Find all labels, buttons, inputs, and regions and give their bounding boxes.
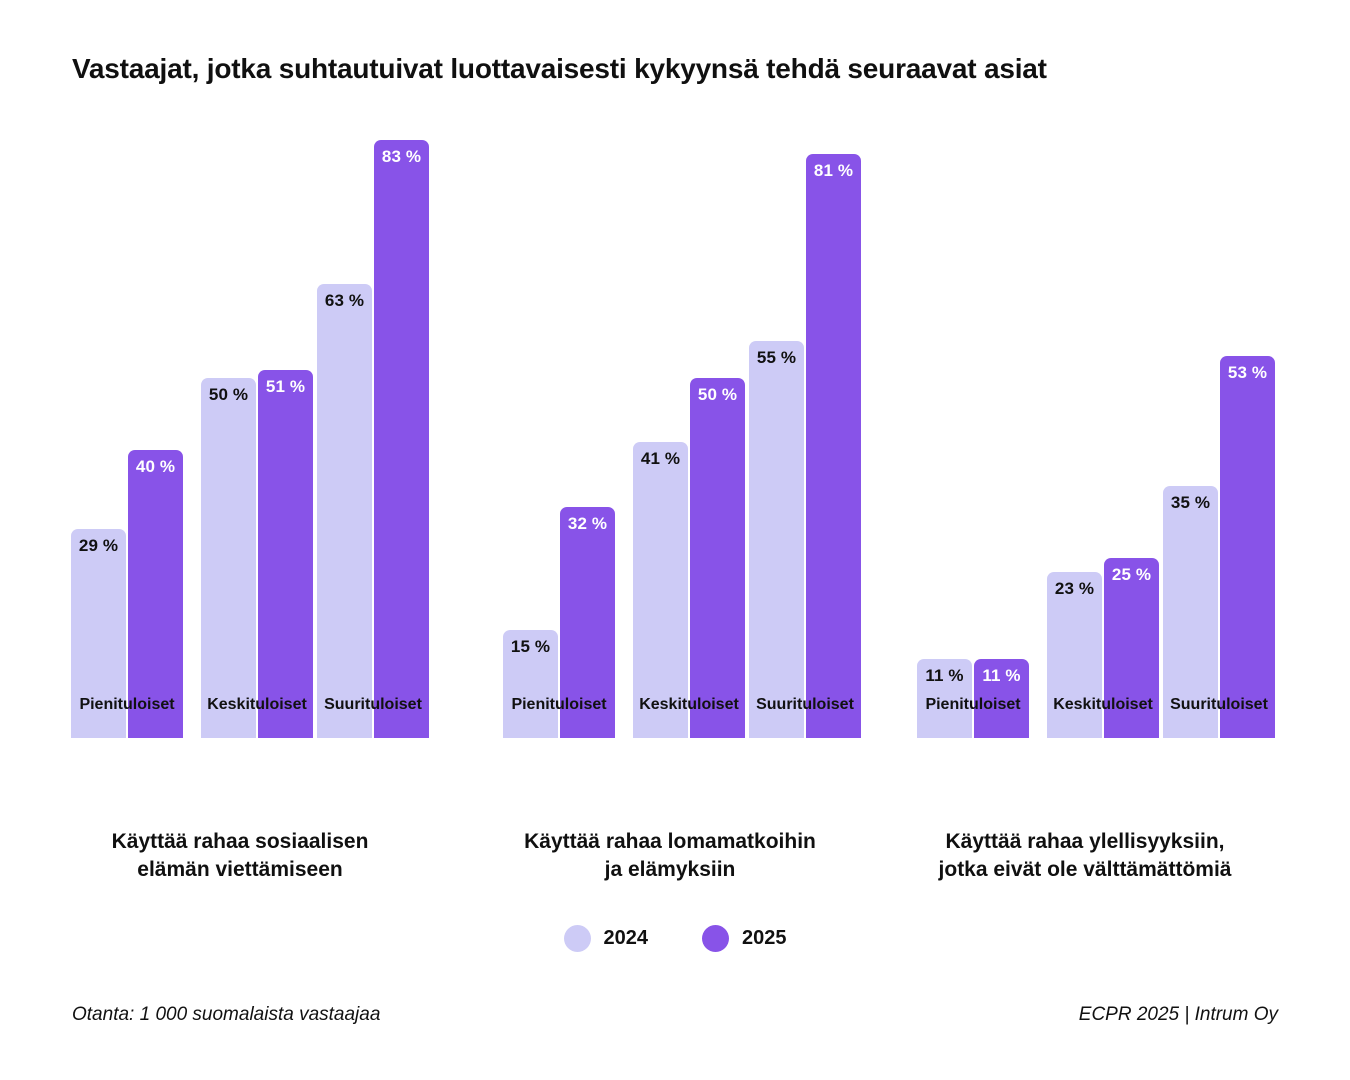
bar-value-label: 63 % [317,291,372,311]
sample-note: Otanta: 1 000 suomalaista vastaajaa [72,1004,380,1026]
bar-2025[interactable]: 40 % [128,450,183,738]
bar-pair: 35 % 53 % [1163,162,1275,738]
bar-group-container: 15 % 32 % Pienituloiset 41 % [503,162,863,738]
chart-plot-area: 29 % 40 % Pienituloiset 50 % [0,150,1350,790]
bar-value-label: 51 % [258,377,313,397]
bar-2024[interactable]: 55 % [749,341,804,738]
bar-pair: 50 % 51 % [201,162,313,738]
chart-legend: 2024 2025 [0,925,1350,952]
bar-2024[interactable]: 15 % [503,630,558,738]
group-title-line: Käyttää rahaa lomamatkoihin [460,828,880,856]
bar-2024[interactable]: 41 % [633,442,688,738]
bar-2024[interactable]: 50 % [201,378,256,739]
category-keskituloiset: 50 % 51 % Keskituloiset [201,162,313,738]
category-pienituloiset: 11 % 11 % Pienituloiset [917,162,1029,738]
bar-value-label: 11 % [974,666,1029,686]
bar-value-label: 81 % [806,161,861,181]
legend-item-2025[interactable]: 2025 [702,925,787,952]
category-axis-label: Pienituloiset [59,696,195,714]
category-suurituloiset: 35 % 53 % Suurituloiset [1163,162,1275,738]
chart-group-3: 11 % 11 % Pienituloiset 23 % [917,150,1277,790]
bar-pair: 23 % 25 % [1047,162,1159,738]
bar-2025[interactable]: 83 % [374,140,429,738]
bar-value-label: 55 % [749,348,804,368]
page-title: Vastaajat, jotka suhtautuivat luottavais… [72,52,1292,86]
legend-item-2024[interactable]: 2024 [564,925,649,952]
source-credit: ECPR 2025 | Intrum Oy [1079,1004,1278,1026]
group-title-line: Käyttää rahaa sosiaalisen [30,828,450,856]
legend-label: 2024 [604,927,649,950]
group-title-line: jotka eivät ole välttämättömiä [875,856,1295,884]
bar-value-label: 23 % [1047,579,1102,599]
category-axis-label: Pienituloiset [491,696,627,714]
bar-pair: 41 % 50 % [633,162,745,738]
group-title-line: ja elämyksiin [460,856,880,884]
category-pienituloiset: 15 % 32 % Pienituloiset [503,162,615,738]
category-keskituloiset: 23 % 25 % Keskituloiset [1047,162,1159,738]
bar-pair: 29 % 40 % [71,162,183,738]
bar-group-container: 29 % 40 % Pienituloiset 50 % [71,162,431,738]
category-keskituloiset: 41 % 50 % Keskituloiset [633,162,745,738]
legend-label: 2025 [742,927,787,950]
category-suurituloiset: 63 % 83 % Suurituloiset [317,162,429,738]
chart-page: Vastaajat, jotka suhtautuivat luottavais… [0,0,1350,1080]
category-suurituloiset: 55 % 81 % Suurituloiset [749,162,861,738]
chart-group-2: 15 % 32 % Pienituloiset 41 % [503,150,863,790]
bar-pair: 11 % 11 % [917,162,1029,738]
bar-value-label: 32 % [560,514,615,534]
bar-2025[interactable]: 50 % [690,378,745,739]
group-title-2: Käyttää rahaa lomamatkoihin ja elämyksii… [460,828,880,883]
bar-value-label: 11 % [917,666,972,686]
bar-2025[interactable]: 81 % [806,154,861,738]
bar-value-label: 29 % [71,536,126,556]
bar-value-label: 15 % [503,637,558,657]
bar-value-label: 25 % [1104,565,1159,585]
bar-value-label: 50 % [690,385,745,405]
bar-group-container: 11 % 11 % Pienituloiset 23 % [917,162,1277,738]
group-title-3: Käyttää rahaa ylellisyyksiin, jotka eivä… [875,828,1295,883]
bar-2025[interactable]: 53 % [1220,356,1275,738]
category-axis-label: Pienituloiset [905,696,1041,714]
category-axis-label: Suurituloiset [1151,696,1287,714]
bar-value-label: 35 % [1163,493,1218,513]
category-pienituloiset: 29 % 40 % Pienituloiset [71,162,183,738]
group-title-1: Käyttää rahaa sosiaalisen elämän viettäm… [30,828,450,883]
bar-2024[interactable]: 63 % [317,284,372,738]
bar-value-label: 53 % [1220,363,1275,383]
bar-pair: 15 % 32 % [503,162,615,738]
chart-group-1: 29 % 40 % Pienituloiset 50 % [71,150,431,790]
bar-2025[interactable]: 51 % [258,370,313,738]
bar-pair: 55 % 81 % [749,162,861,738]
legend-swatch-icon [702,925,729,952]
bar-value-label: 41 % [633,449,688,469]
bar-value-label: 83 % [374,147,429,167]
category-axis-label: Suurituloiset [737,696,873,714]
category-axis-label: Suurituloiset [305,696,441,714]
legend-swatch-icon [564,925,591,952]
bar-value-label: 50 % [201,385,256,405]
bar-pair: 63 % 83 % [317,162,429,738]
group-title-line: elämän viettämiseen [30,856,450,884]
bar-value-label: 40 % [128,457,183,477]
group-title-line: Käyttää rahaa ylellisyyksiin, [875,828,1295,856]
